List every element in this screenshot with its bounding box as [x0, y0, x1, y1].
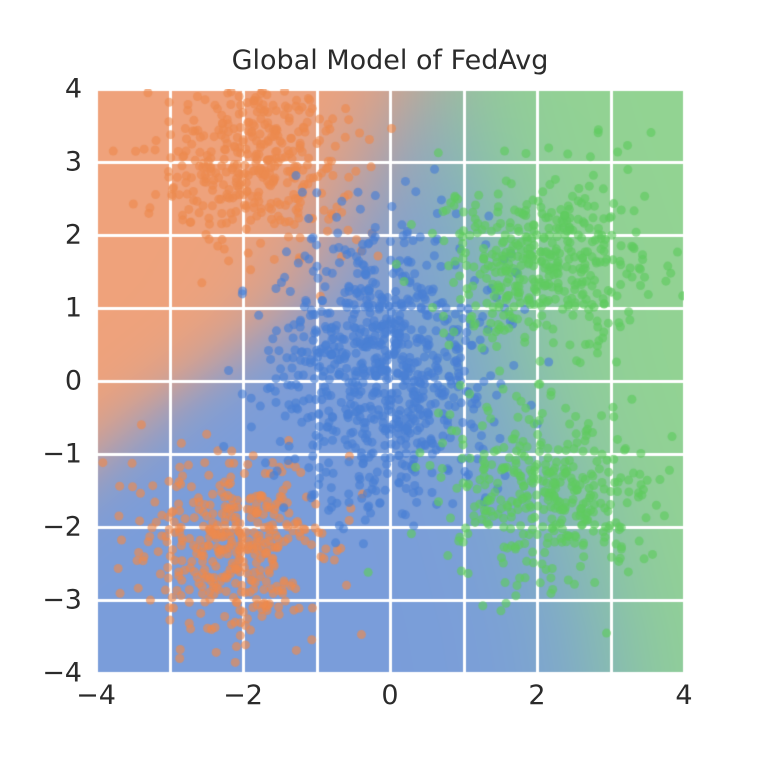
scatter-plot-canvas[interactable]	[96, 89, 684, 673]
x-tick-label: 2	[528, 682, 545, 709]
x-tick-label: −2	[223, 682, 263, 709]
y-tick-label: −2	[42, 514, 82, 541]
x-tick-label: 0	[381, 682, 398, 709]
plot-area[interactable]	[96, 89, 684, 673]
page-title: Global Model of FedAvg	[96, 44, 684, 78]
x-tick-label: −4	[76, 682, 116, 709]
figure: Global Model of FedAvg −4−3−2−101234 −4−…	[0, 0, 761, 761]
y-tick-label: 2	[65, 222, 82, 249]
y-tick-label: −1	[42, 441, 82, 468]
y-tick-label: 3	[65, 149, 82, 176]
y-tick-label: 0	[65, 368, 82, 395]
y-tick-label: −3	[42, 587, 82, 614]
y-tick-label: 1	[65, 295, 82, 322]
x-tick-label: 4	[675, 682, 692, 709]
y-tick-label: 4	[65, 76, 82, 103]
